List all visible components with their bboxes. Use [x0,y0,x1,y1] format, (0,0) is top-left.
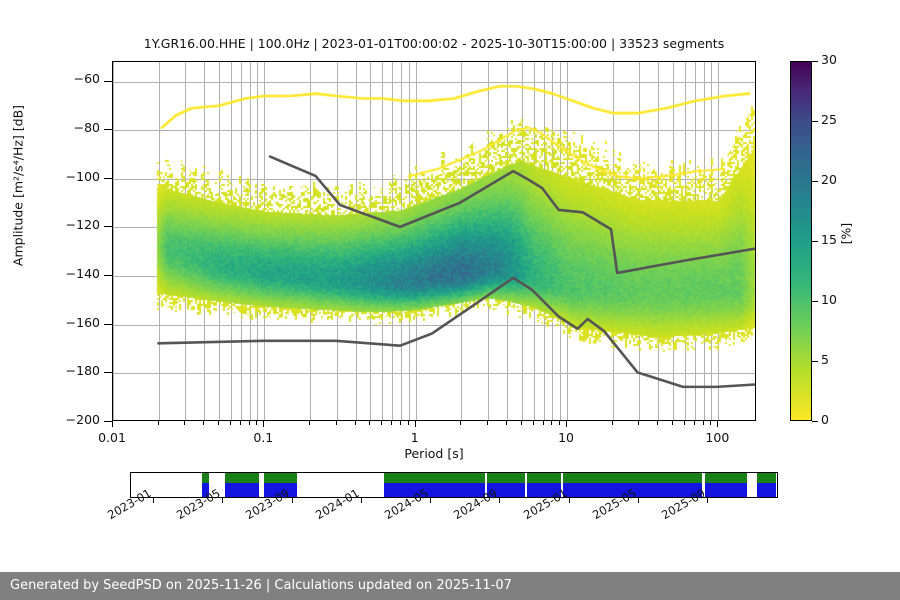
y-tick-label: −120 [52,217,100,232]
y-tick-label: −180 [52,363,100,378]
timeline-segment-green [384,473,485,483]
x-tick-mark-minor [256,421,257,425]
x-tick-mark-minor [336,421,337,425]
noise-model-lines [113,62,755,421]
x-tick-mark-minor [400,421,401,425]
colorbar-tick-mark [812,121,818,122]
timeline-segment-green [225,473,259,483]
y-tick-label: −100 [52,169,100,184]
colorbar-tick-label: 15 [821,232,837,247]
x-tick-label: 0.01 [82,430,142,445]
x-tick-mark-minor [249,421,250,425]
x-tick-mark-minor [158,421,159,425]
x-tick-mark-minor [218,421,219,425]
timeline-segment[interactable] [705,473,747,497]
timeline-segment[interactable] [225,473,259,497]
x-tick-mark-minor [487,421,488,425]
x-tick-mark-minor [506,421,507,425]
y-tick-label: −60 [52,71,100,86]
x-tick-mark-minor [240,421,241,425]
x-tick-mark-minor [559,421,560,425]
x-tick-mark-minor [391,421,392,425]
x-tick-mark-minor [672,421,673,425]
timeline-segment-blue [225,483,259,497]
x-tick-mark-minor [203,421,204,425]
timeline-tick-mark [569,498,570,503]
timeline-tick-mark [707,498,708,503]
y-axis-title: Amplitude [m²/s⁴/Hz] [dB] [11,36,26,336]
timeline-segment-green [757,473,776,483]
x-tick-mark-minor [355,421,356,425]
timeline-tick-mark [361,498,362,503]
timeline-tick-mark [638,498,639,503]
timeline-segment[interactable] [384,473,485,497]
timeline-segment-green [705,473,747,483]
x-tick-mark-minor [657,421,658,425]
x-tick-label: 0.1 [233,430,293,445]
low-noise-model-line [158,278,755,387]
x-tick-mark-minor [684,421,685,425]
timeline-tick-mark [153,498,154,503]
y-tick-mark [104,226,112,227]
x-tick-mark-minor [184,421,185,425]
page-title: 1Y.GR16.00.HHE | 100.0Hz | 2023-01-01T00… [112,36,756,51]
timeline-segment-blue [757,483,776,497]
timeline-segment-green [527,473,561,483]
x-tick-mark-minor [703,421,704,425]
x-tick-mark-minor [533,421,534,425]
footer-text: Generated by SeedPSD on 2025-11-26 | Cal… [10,578,512,593]
colorbar-tick-label: 25 [821,112,837,127]
x-tick-mark-minor [408,421,409,425]
timeline-tick-mark [430,498,431,503]
high-noise-model-line [270,157,755,273]
x-tick-mark-major [415,421,416,427]
x-tick-mark-major [717,421,718,427]
timeline-tick-mark [499,498,500,503]
x-tick-mark-minor [381,421,382,425]
x-tick-mark-minor [710,421,711,425]
x-tick-mark-major [263,421,264,427]
x-tick-mark-minor [460,421,461,425]
colorbar-title: [%] [839,194,854,274]
colorbar-tick-mark [812,301,818,302]
x-tick-mark-minor [369,421,370,425]
y-tick-mark [104,275,112,276]
colorbar-tick-mark [812,241,818,242]
y-tick-mark [104,421,112,422]
x-tick-label: 10 [536,430,596,445]
timeline-segment-green [563,473,702,483]
y-tick-mark [104,81,112,82]
y-tick-label: −80 [52,120,100,135]
x-tick-mark-major [566,421,567,427]
colorbar-tick-label: 10 [821,292,837,307]
colorbar-tick-label: 30 [821,52,837,67]
psd-plot-area [112,61,756,421]
y-tick-label: −160 [52,315,100,330]
timeline-segment[interactable] [757,473,776,497]
y-tick-mark [104,129,112,130]
y-tick-mark [104,178,112,179]
x-tick-mark-minor [551,421,552,425]
x-tick-mark-major [112,421,113,427]
timeline-tick-mark [292,498,293,503]
timeline-segment-blue [705,483,747,497]
colorbar-tick-mark [812,361,818,362]
timeline-segment-blue [384,483,485,497]
x-tick-label: 100 [687,430,747,445]
timeline-tick-mark [222,498,223,503]
colorbar-tick-mark [812,61,818,62]
colorbar-tick-mark [812,421,818,422]
colorbar-tick-mark [812,181,818,182]
y-tick-label: −140 [52,266,100,281]
psd-figure: 1Y.GR16.00.HHE | 100.0Hz | 2023-01-01T00… [0,0,900,600]
y-tick-label: −200 [52,412,100,427]
x-tick-mark-minor [309,421,310,425]
x-axis-title: Period [s] [112,446,756,461]
x-tick-mark-minor [694,421,695,425]
data-availability-timeline[interactable] [130,472,778,498]
y-tick-mark [104,324,112,325]
x-tick-mark-minor [230,421,231,425]
colorbar-tick-label: 5 [821,352,829,367]
x-tick-mark-minor [521,421,522,425]
x-tick-mark-minor [638,421,639,425]
colorbar-tick-label: 20 [821,172,837,187]
colorbar-tick-label: 0 [821,412,829,427]
timeline-segment-green [487,473,524,483]
y-tick-mark [104,372,112,373]
timeline-segment-green [264,473,298,483]
x-tick-mark-minor [612,421,613,425]
timeline-segment-green [202,473,209,483]
x-tick-mark-minor [543,421,544,425]
colorbar [790,61,812,421]
x-tick-label: 1 [385,430,445,445]
